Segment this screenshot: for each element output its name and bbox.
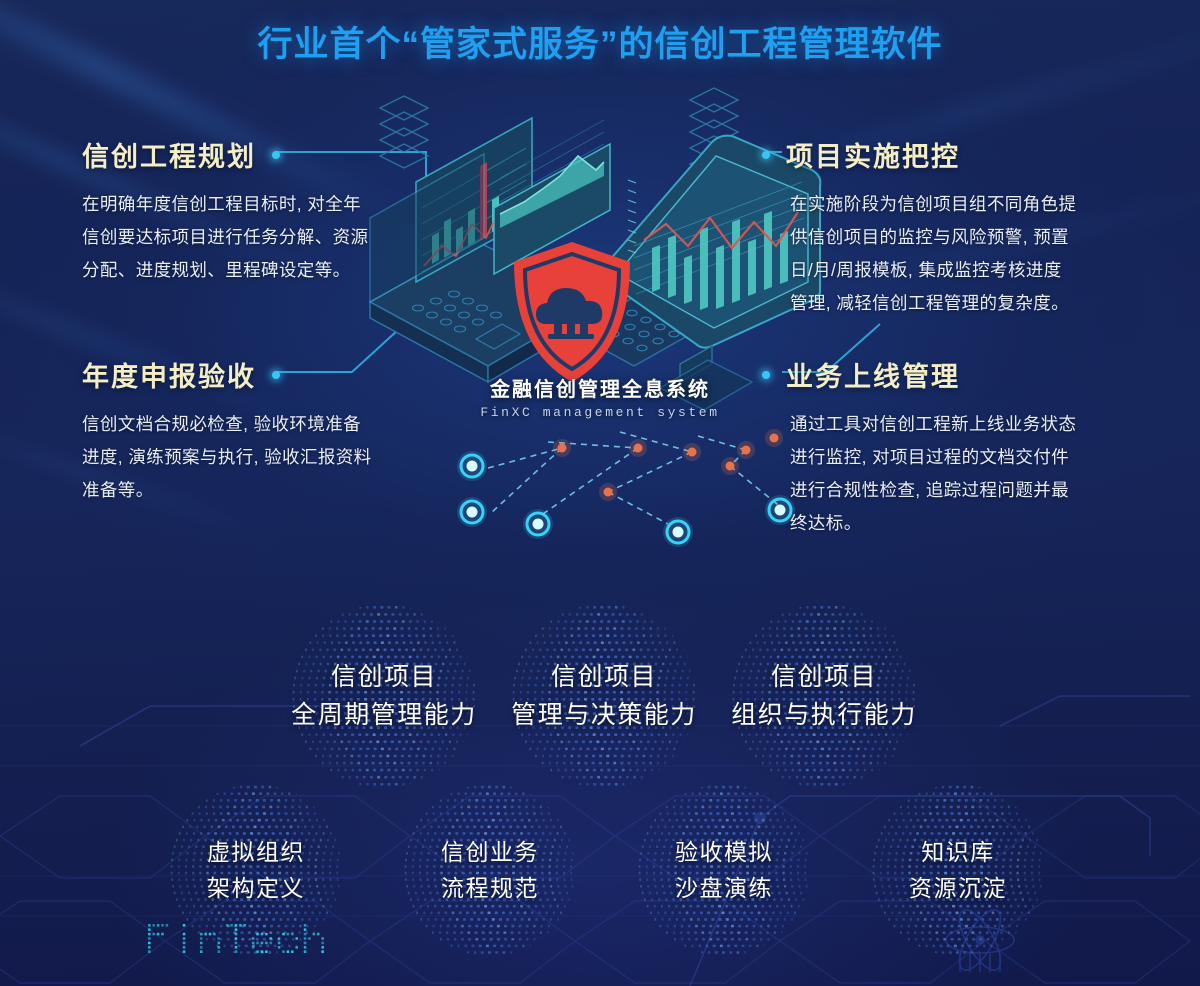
feature-block-execution: 项目实施把控 在实施阶段为信创项目组不同角色提 供信创项目的监控与风险预警, 预…: [790, 135, 1160, 320]
sphere-line-1: 验收模拟: [675, 834, 773, 870]
infographic-canvas: 行业首个“管家式服务”的信创工程管理软件: [0, 0, 1200, 986]
sphere-line-2: 架构定义: [207, 870, 305, 906]
sphere-line-1: 信创业务: [441, 834, 539, 870]
connector-dot-icon: [272, 151, 280, 159]
sphere-line-1: 虚拟组织: [207, 834, 305, 870]
feature-heading: 项目实施把控: [790, 135, 1160, 174]
feature-line: 终达标。: [790, 507, 1160, 540]
sphere-line-2: 管理与决策能力: [511, 696, 697, 734]
feature-line: 信创文档合规必检查, 验收环境准备: [82, 408, 452, 441]
sphere-line-1: 信创项目: [771, 658, 877, 696]
feature-block-online: 业务上线管理 通过工具对信创工程新上线业务状态 进行监控, 对项目过程的文档交付…: [790, 355, 1160, 540]
capability-sphere: 信创项目 全周期管理能力: [292, 604, 476, 788]
feature-heading-text: 信创工程规划: [82, 135, 256, 174]
capability-sphere: 信创项目 组织与执行能力: [732, 604, 916, 788]
sphere-line-2: 沙盘演练: [675, 870, 773, 906]
sphere-line-1: 知识库: [921, 834, 995, 870]
node-network: [430, 420, 850, 560]
relay-dot: [553, 429, 783, 501]
feature-body: 在明确年度信创工程目标时, 对全年 信创要达标项目进行任务分解、资源 分配、进度…: [82, 188, 452, 287]
module-sphere: 信创业务 流程规范: [404, 784, 576, 956]
feature-heading-text: 业务上线管理: [786, 355, 960, 394]
sphere-line-1: 信创项目: [551, 658, 657, 696]
feature-body: 信创文档合规必检查, 验收环境准备 进度, 演练预案与执行, 验收汇报资料 准备…: [82, 408, 452, 507]
feature-line: 进行监控, 对项目过程的文档交付件: [790, 441, 1160, 474]
feature-heading: 业务上线管理: [790, 355, 1160, 394]
feature-heading: 信创工程规划: [82, 135, 452, 174]
feature-line: 分配、进度规划、里程碑设定等。: [82, 254, 452, 287]
feature-line: 进行合规性检查, 追踪过程问题并最: [790, 474, 1160, 507]
feature-block-planning: 信创工程规划 在明确年度信创工程目标时, 对全年 信创要达标项目进行任务分解、资…: [82, 135, 452, 287]
page-title: 行业首个“管家式服务”的信创工程管理软件: [0, 16, 1200, 67]
feature-line: 供信创项目的监控与风险预警, 预置: [790, 221, 1160, 254]
feature-heading: 年度申报验收: [82, 355, 452, 394]
glow-node: [457, 451, 795, 547]
sphere-line-1: 信创项目: [331, 658, 437, 696]
module-sphere: 知识库 资源沉淀: [872, 784, 1044, 956]
feature-line: 通过工具对信创工程新上线业务状态: [790, 408, 1160, 441]
feature-heading-text: 项目实施把控: [786, 135, 960, 174]
feature-heading-text: 年度申报验收: [82, 355, 256, 394]
feature-line: 进度, 演练预案与执行, 验收汇报资料: [82, 441, 452, 474]
connector-dot-icon: [272, 371, 280, 379]
capability-sphere: 信创项目 管理与决策能力: [512, 604, 696, 788]
connector-dot-icon: [762, 371, 770, 379]
sphere-line-2: 全周期管理能力: [291, 696, 477, 734]
feature-line: 在实施阶段为信创项目组不同角色提: [790, 188, 1160, 221]
sphere-line-2: 组织与执行能力: [731, 696, 917, 734]
sphere-line-2: 资源沉淀: [909, 870, 1007, 906]
feature-line: 管理, 减轻信创工程管理的复杂度。: [790, 287, 1160, 320]
connector-dot-icon: [762, 151, 770, 159]
feature-line: 信创要达标项目进行任务分解、资源: [82, 221, 452, 254]
sphere-line-2: 流程规范: [441, 870, 539, 906]
feature-body: 通过工具对信创工程新上线业务状态 进行监控, 对项目过程的文档交付件 进行合规性…: [790, 408, 1160, 540]
module-sphere: 虚拟组织 架构定义: [170, 784, 342, 956]
security-shield-icon: [514, 242, 630, 382]
module-sphere: 验收模拟 沙盘演练: [638, 784, 810, 956]
feature-block-acceptance: 年度申报验收 信创文档合规必检查, 验收环境准备 进度, 演练预案与执行, 验收…: [82, 355, 452, 507]
feature-line: 准备等。: [82, 474, 452, 507]
feature-line: 在明确年度信创工程目标时, 对全年: [82, 188, 452, 221]
feature-body: 在实施阶段为信创项目组不同角色提 供信创项目的监控与风险预警, 预置 日/月/周…: [790, 188, 1160, 320]
feature-line: 日/月/周报模板, 集成监控考核进度: [790, 254, 1160, 287]
